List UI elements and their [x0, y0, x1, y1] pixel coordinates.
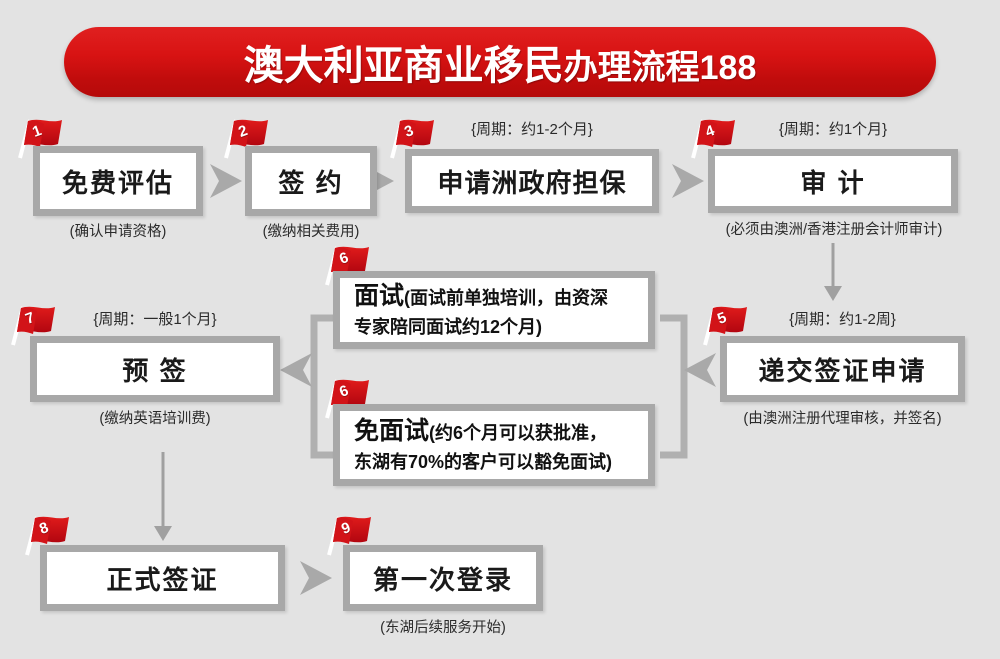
step-period-5: {周期：约1-2周} — [720, 308, 965, 329]
flag-number-label: 2 — [232, 120, 255, 142]
step-box-3[interactable]: 申请洲政府担保 — [405, 149, 659, 213]
title-main-text: 澳大利亚商业移民 — [244, 44, 564, 88]
step-label-6-no-interview-head: 免面试 — [354, 417, 429, 445]
step-label-6-interview: 面试(面试前单独培训，由资深 专家陪同面试约12个月) — [354, 279, 608, 340]
title-sub-text: 办理流程188 — [564, 49, 757, 87]
arrow-step1-to-step2 — [210, 164, 242, 198]
step-label-4: 审 计 — [800, 163, 865, 200]
step-label-6-no-interview-line2: 东湖有70%的客户可以豁免面试) — [354, 452, 612, 472]
step-period-4: {周期：约1个月} — [708, 118, 958, 139]
step-label-6-interview-line2: 专家陪同面试约12个月) — [354, 317, 542, 337]
step-box-4[interactable]: 审 计 — [708, 149, 958, 213]
bracket-right-middle — [660, 318, 684, 455]
step-caption-4: (必须由澳洲/香港注册会计师审计) — [693, 218, 975, 239]
step-box-8[interactable]: 正式签证 — [40, 545, 285, 611]
arrow-step5-to-interview — [684, 353, 716, 387]
step-box-6-no-interview[interactable]: 免面试(约6个月可以获批准， 东湖有70%的客户可以豁免面试) — [333, 404, 655, 486]
page-title: 澳大利亚商业移民办理流程188 — [244, 33, 757, 91]
step-caption-1: (确认申请资格) — [33, 220, 203, 241]
step-box-2[interactable]: 签 约 — [245, 146, 377, 216]
flag-number-label: 6 — [333, 247, 356, 269]
arrow-interview-to-step7 — [280, 353, 312, 387]
step-box-1[interactable]: 免费评估 — [33, 146, 203, 216]
step-label-6-no-interview: 免面试(约6个月可以获批准， 东湖有70%的客户可以豁免面试) — [354, 414, 612, 475]
step-label-1: 免费评估 — [62, 163, 174, 200]
flag-number-label: 8 — [33, 517, 56, 539]
step-label-6-interview-head: 面试 — [354, 282, 404, 310]
step-label-6-interview-line1: (面试前单独培训，由资深 — [404, 288, 608, 308]
arrow-step8-to-step9 — [300, 561, 332, 595]
step-box-5[interactable]: 递交签证申请 — [720, 336, 965, 402]
step-label-5: 递交签证申请 — [758, 351, 926, 388]
step-caption-5: (由澳洲注册代理审核，并签名) — [700, 407, 985, 428]
step-label-6-no-interview-line1: (约6个月可以获批准， — [429, 423, 607, 443]
step-box-9[interactable]: 第一次登录 — [343, 545, 543, 611]
arrow-step4-to-step5 — [824, 243, 842, 301]
step-label-3: 申请洲政府担保 — [437, 163, 626, 200]
step-period-3: {周期：约1-2个月} — [405, 118, 659, 139]
step-label-2: 签 约 — [278, 163, 343, 200]
step-label-9: 第一次登录 — [373, 560, 513, 597]
step-label-7: 预 签 — [122, 351, 187, 388]
arrow-step7-to-step8 — [154, 452, 172, 541]
flowchart-canvas: 澳大利亚商业移民办理流程188 — [0, 0, 1000, 659]
step-box-7[interactable]: 预 签 — [30, 336, 280, 402]
flag-number-label: 1 — [26, 120, 49, 142]
flag-number-label: 9 — [335, 517, 358, 539]
step-label-8: 正式签证 — [106, 560, 218, 597]
step-caption-9: (东湖后续服务开始) — [343, 616, 543, 637]
step-caption-7: (缴纳英语培训费) — [30, 407, 280, 428]
step-caption-2: (缴纳相关费用) — [235, 220, 387, 241]
arrow-step3-to-step4 — [672, 164, 704, 198]
title-banner: 澳大利亚商业移民办理流程188 — [64, 27, 936, 97]
step-period-7: {周期：一般1个月} — [30, 308, 280, 329]
step-box-6-interview[interactable]: 面试(面试前单独培训，由资深 专家陪同面试约12个月) — [333, 271, 655, 349]
flag-number-label: 6 — [333, 380, 356, 402]
